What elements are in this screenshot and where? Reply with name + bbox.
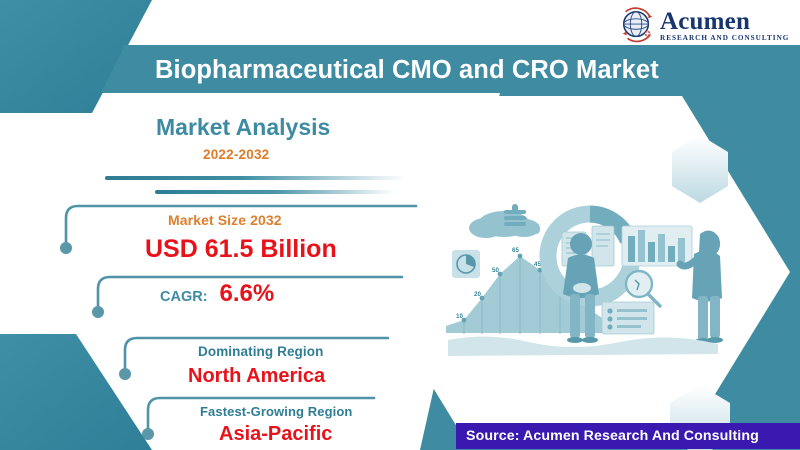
source-band: Source: Acumen Research And Consulting [456,423,800,449]
magnifier-icon [626,271,660,306]
source-text: Source: Acumen Research And Consulting [456,428,759,444]
left-bottom-wedge [0,334,152,450]
cagr-label: CAGR: [160,289,208,305]
page-title: Biopharmaceutical CMO and CRO Market [155,53,775,87]
market-analysis-heading: Market Analysis [156,114,330,141]
globe-icon [618,6,656,44]
cagr-row: CAGR: 6.6% [160,280,274,308]
connector-dot-4 [142,428,154,440]
connector-dot-1 [60,242,72,254]
chart-label-10: 10 [456,313,463,320]
fastest-growing-region-value: Asia-Pacific [219,423,332,446]
logo-wordmark: Acumen RESEARCH AND CONSULTING [660,7,789,42]
connector-dot-2 [92,306,104,318]
data-analysis-illustration: 10 20 50 65 45 30 [442,178,782,360]
chart-label-20: 20 [474,291,481,298]
market-size-label: Market Size 2032 [168,212,282,228]
list-card [602,302,654,334]
chart-label-65: 65 [512,247,519,254]
market-analysis-period: 2022-2032 [203,147,269,162]
market-size-value: USD 61.5 Billion [145,235,337,264]
connector-dot-3 [119,368,131,380]
divider-line-1 [105,176,405,180]
logo-name: Acumen [660,9,789,34]
cagr-value: 6.6% [220,280,275,308]
pie-chart-icon [452,250,480,278]
dominating-region-label: Dominating Region [198,344,323,359]
chart-label-50: 50 [492,267,499,274]
bar-chart-board [622,226,692,266]
company-logo: Acumen RESEARCH AND CONSULTING [618,4,794,46]
dominating-region-value: North America [188,365,325,388]
divider-line-2 [155,190,395,194]
logo-tagline: RESEARCH AND CONSULTING [660,35,789,42]
fastest-growing-region-label: Fastest-Growing Region [200,404,352,419]
infographic-canvas: Acumen RESEARCH AND CONSULTING Biopharma… [0,0,800,450]
